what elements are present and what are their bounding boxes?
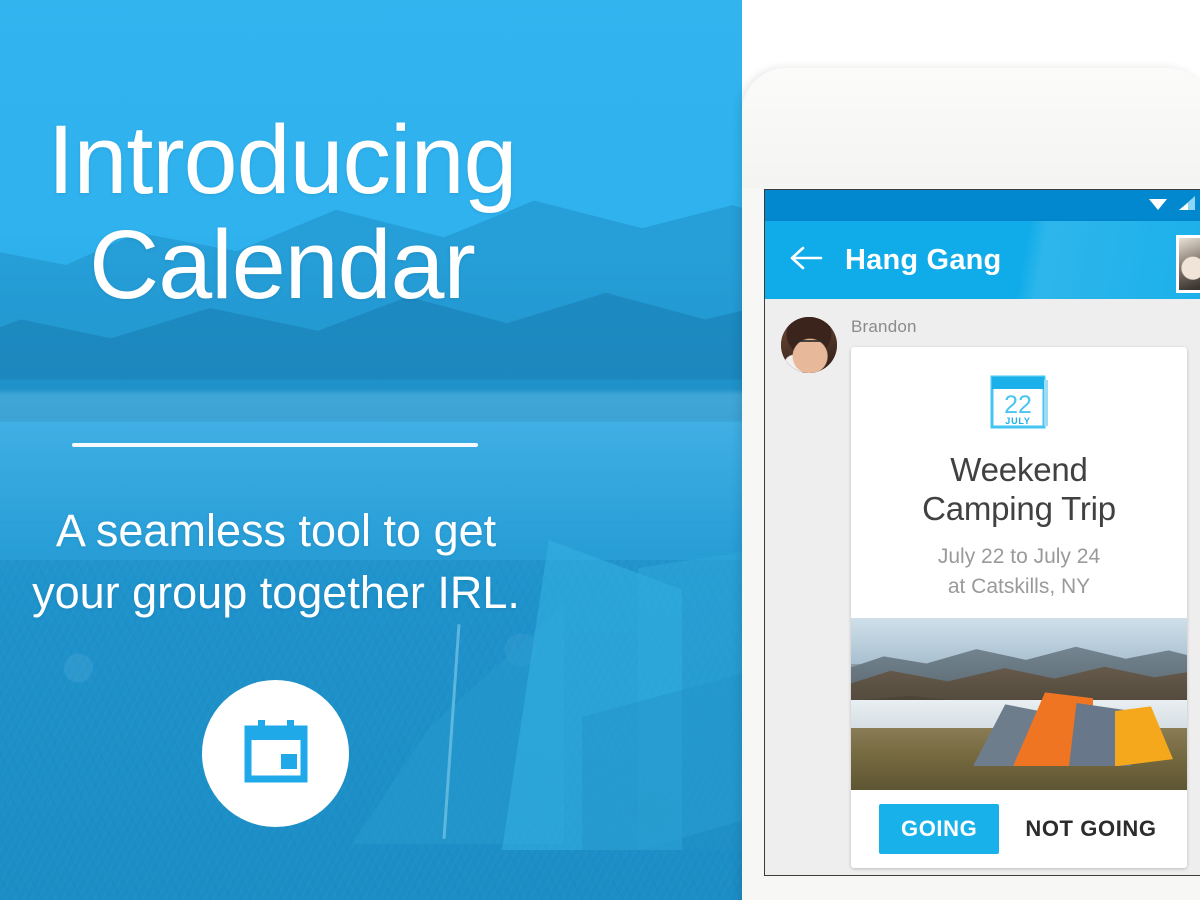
event-title-line2: Camping Trip	[865, 490, 1173, 529]
event-card-header: 22 JULY Weekend Camping Trip July 22 to …	[851, 347, 1187, 618]
message-content: Brandon 22 JULY	[851, 317, 1200, 868]
not-going-button[interactable]: NOT GOING	[1011, 804, 1170, 854]
promo-screenshot: Introducing Calendar A seamless tool to …	[0, 0, 1200, 900]
app-badge	[202, 680, 349, 827]
hero-copy: Introducing Calendar A seamless tool to …	[0, 0, 742, 900]
event-title: Weekend Camping Trip	[865, 451, 1173, 529]
event-card[interactable]: 22 JULY Weekend Camping Trip July 22 to …	[851, 347, 1187, 868]
cell-signal-icon	[1177, 195, 1196, 216]
hero-headline-line1: Introducing	[0, 108, 592, 213]
hero-subheadline-line2: your group together IRL.	[0, 562, 576, 624]
svg-text:JULY: JULY	[1005, 416, 1030, 426]
avatar-image	[781, 317, 837, 373]
conversation-list[interactable]: Brandon 22 JULY	[765, 299, 1200, 876]
headline-divider	[72, 443, 478, 447]
phone-bezel-top	[742, 68, 1200, 188]
hero-headline: Introducing Calendar	[0, 108, 592, 318]
going-button[interactable]: GOING	[879, 804, 999, 854]
photo-tent	[973, 688, 1169, 766]
app-bar-title: Hang Gang	[845, 244, 1001, 277]
group-photo-thumbnail-image	[1179, 238, 1200, 290]
status-bar	[765, 190, 1200, 221]
event-card-actions: GOING NOT GOING	[851, 790, 1187, 868]
hero-subheadline: A seamless tool to get your group togeth…	[0, 500, 576, 624]
event-title-line1: Weekend	[865, 451, 1173, 490]
message-sender: Brandon	[851, 317, 1200, 337]
svg-text:22: 22	[1004, 391, 1032, 419]
photo-tent-panel-d	[1115, 706, 1173, 766]
hero-headline-line2: Calendar	[0, 213, 592, 318]
back-button[interactable]	[785, 238, 829, 282]
app-bar: Hang Gang	[765, 221, 1200, 299]
hero-subheadline-line1: A seamless tool to get	[0, 500, 576, 562]
calendar-icon	[239, 718, 313, 790]
phone-screen: Hang Gang Brandon	[764, 189, 1200, 876]
group-photo-thumbnail[interactable]	[1176, 235, 1200, 293]
wifi-icon	[1148, 195, 1168, 216]
camping-tent-photo	[851, 618, 1187, 790]
back-arrow-icon	[790, 245, 824, 276]
event-location: at Catskills, NY	[865, 573, 1173, 601]
phone-device: Hang Gang Brandon	[742, 68, 1200, 900]
message-row: Brandon 22 JULY	[781, 317, 1200, 868]
event-calendar-icon: 22 JULY	[988, 371, 1050, 433]
brandon-avatar[interactable]	[781, 317, 837, 373]
event-date-range: July 22 to July 24	[865, 543, 1173, 571]
